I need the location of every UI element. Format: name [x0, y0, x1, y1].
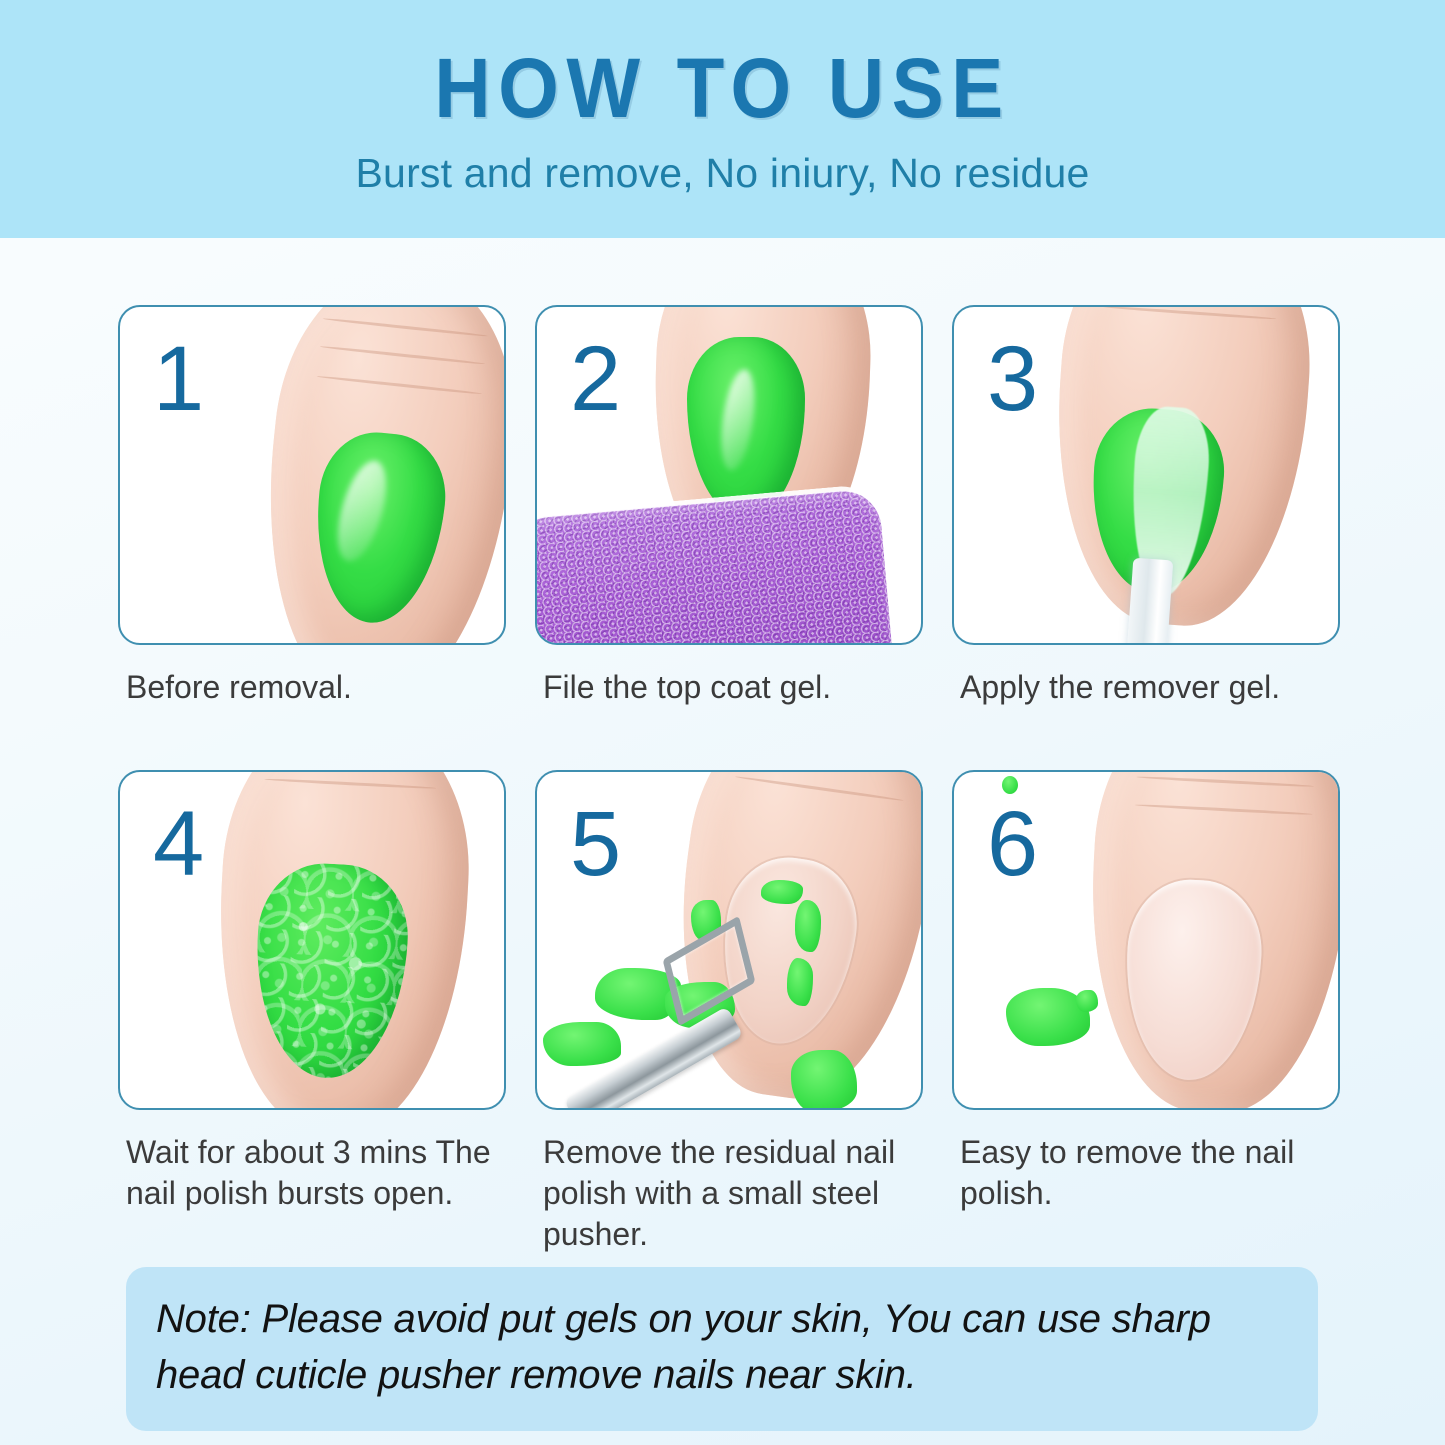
- knuckle-line: [1103, 305, 1276, 320]
- step-photo-4: 4: [118, 770, 506, 1110]
- step-caption-5: Remove the residual nail polish with a s…: [535, 1110, 923, 1255]
- green-flake-icon: [791, 1050, 857, 1110]
- step-caption-3: Apply the remover gel.: [952, 645, 1340, 708]
- step-number-4: 4: [153, 798, 204, 890]
- green-flake-icon: [795, 900, 821, 952]
- step-card-4: 4 Wait for about 3 mins The nail polish …: [118, 770, 506, 1255]
- step-photo-3: 3: [952, 305, 1340, 645]
- nail-file-white-stripe: [535, 483, 895, 645]
- green-flake-icon: [761, 880, 803, 904]
- step-number-6: 6: [987, 798, 1038, 890]
- step-caption-6: Easy to remove the nail polish.: [952, 1110, 1340, 1214]
- note-text: Note: Please avoid put gels on your skin…: [156, 1291, 1288, 1403]
- step-caption-2: File the top coat gel.: [535, 645, 923, 708]
- step-photo-6: 6: [952, 770, 1340, 1110]
- step-number-3: 3: [987, 333, 1038, 425]
- step-photo-1: 1: [118, 305, 506, 645]
- step-card-6: 6 Easy to remove the nail polish.: [952, 770, 1340, 1255]
- step-photo-2: 2: [535, 305, 923, 645]
- page-subtitle: Burst and remove, No iniury, No residue: [0, 132, 1445, 196]
- knuckle-line: [1135, 803, 1313, 815]
- knuckle-line: [319, 345, 485, 365]
- step-card-1: 1 Before removal.: [118, 305, 506, 708]
- knuckle-line: [1136, 776, 1314, 788]
- step-caption-4: Wait for about 3 mins The nail polish bu…: [118, 1110, 506, 1214]
- step-card-5: 5 Remove the residual nail polish with a…: [535, 770, 923, 1255]
- brush-applicator-icon: [1127, 558, 1174, 645]
- step-caption-1: Before removal.: [118, 645, 506, 708]
- header-band: HOW TO USE Burst and remove, No iniury, …: [0, 0, 1445, 238]
- step-number-1: 1: [153, 333, 204, 425]
- step-card-2: 2 File the top coat gel.: [535, 305, 923, 708]
- step-number-5: 5: [570, 798, 621, 890]
- knuckle-line: [739, 770, 907, 774]
- green-flake-icon: [787, 958, 813, 1006]
- steps-grid: 1 Before removal. 2 File the top: [118, 305, 1340, 1255]
- note-panel: Note: Please avoid put gels on your skin…: [126, 1267, 1318, 1431]
- step-photo-5: 5: [535, 770, 923, 1110]
- knuckle-line: [735, 775, 903, 802]
- green-flake-icon: [543, 1022, 621, 1066]
- step-number-2: 2: [570, 333, 621, 425]
- knuckle-line: [322, 317, 488, 337]
- knuckle-line: [316, 375, 482, 395]
- infographic-page: HOW TO USE Burst and remove, No iniury, …: [0, 0, 1445, 1445]
- knuckle-line: [264, 778, 436, 790]
- green-flake-icon: [1076, 990, 1098, 1012]
- green-flake-icon: [1002, 776, 1018, 794]
- step-card-3: 3 Apply the remover gel.: [952, 305, 1340, 708]
- page-title: HOW TO USE: [51, 0, 1395, 132]
